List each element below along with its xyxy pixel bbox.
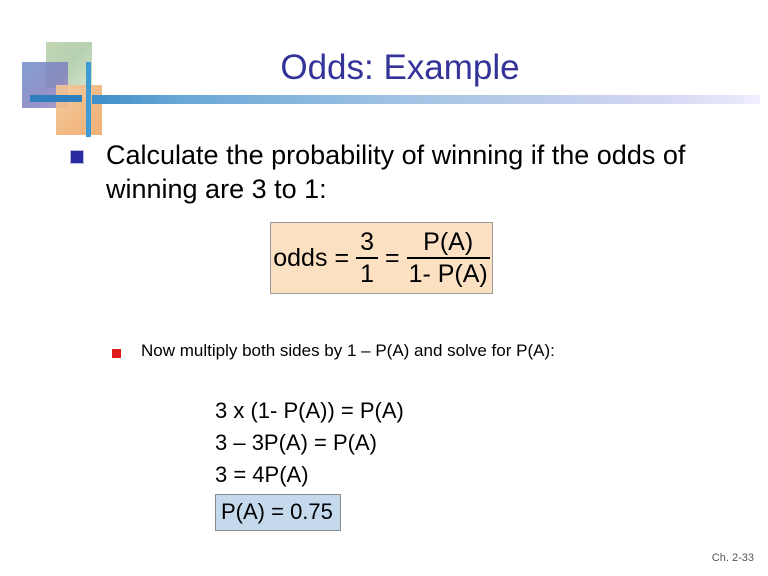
fraction-three-over-one: 3 1 — [356, 230, 378, 287]
odds-formula-expression: odds = 3 1 = P(A) 1- P(A) — [273, 230, 490, 287]
solution-answer-highlighted: P(A) = 0.75 — [215, 494, 341, 531]
main-bullet-label: Calculate the probability of winning if … — [106, 138, 730, 206]
bullet-square-icon — [70, 150, 84, 164]
horizontal-accent-bar-icon — [30, 95, 82, 102]
formula-equals-first: = — [334, 244, 349, 273]
formula-equals-second: = — [385, 244, 400, 273]
vertical-accent-bar-icon — [86, 62, 91, 137]
sub-bullet-label: Now multiply both sides by 1 – P(A) and … — [141, 340, 555, 362]
page-title: Odds: Example — [120, 48, 680, 88]
orange-square-icon — [56, 85, 102, 135]
formula-label-odds: odds — [273, 244, 327, 273]
solution-step: 3 x (1- P(A)) = P(A) — [215, 395, 404, 427]
main-bullet-item: Calculate the probability of winning if … — [70, 138, 730, 206]
solution-steps-list: 3 x (1- P(A)) = P(A) 3 – 3P(A) = P(A) 3 … — [215, 395, 404, 531]
fraction-numerator: 3 — [356, 230, 378, 257]
fraction-denominator: 1- P(A) — [407, 259, 490, 287]
title-underline-rule — [92, 95, 760, 104]
fraction-denominator: 1 — [356, 259, 378, 287]
slide-canvas: Odds: Example Calculate the probability … — [0, 0, 768, 576]
sub-bullet-item: Now multiply both sides by 1 – P(A) and … — [112, 340, 555, 362]
fraction-numerator: P(A) — [421, 230, 475, 257]
solution-step: 3 = 4P(A) — [215, 459, 309, 491]
odds-formula-box: odds = 3 1 = P(A) 1- P(A) — [270, 222, 493, 294]
decorative-logo-group — [0, 0, 140, 150]
fraction-pa-over-one-minus-pa: P(A) 1- P(A) — [407, 230, 490, 287]
sub-bullet-square-icon — [112, 349, 121, 358]
slide-footer-reference: Ch. 2-33 — [712, 552, 754, 564]
solution-step: 3 – 3P(A) = P(A) — [215, 427, 377, 459]
